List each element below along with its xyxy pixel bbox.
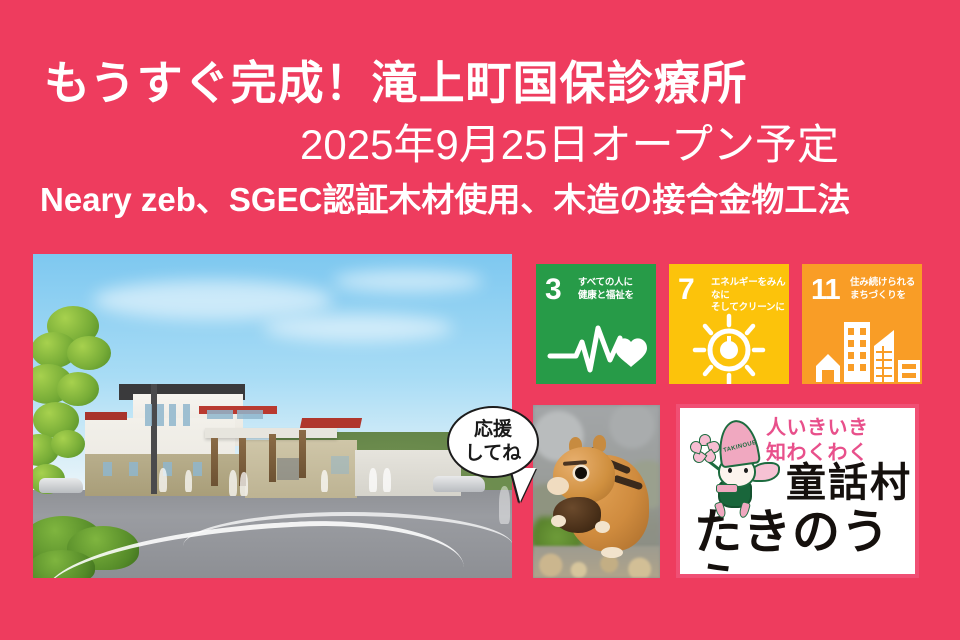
subtitle-features: Neary zeb、SGEC認証木材使用、木造の接合金物工法 xyxy=(40,180,850,220)
poster-canvas: もうすぐ完成！滝上町国保診療所 2025年9月25日オープン予定 Neary z… xyxy=(0,0,960,640)
mascot-eye xyxy=(744,468,748,473)
page-title: もうすぐ完成！滝上町国保診療所 xyxy=(44,56,748,110)
chipmunk-foot xyxy=(601,547,623,558)
logo-douwamura-text: 童話村 xyxy=(786,462,912,504)
sdg-label: 住み続けられる まちづくりを xyxy=(850,277,922,302)
entrance-door xyxy=(277,458,299,480)
town-logo: 人いきいき 知わくわく 童話村 たきのうえ TAKINOUE xyxy=(676,404,919,578)
mascot-eye xyxy=(728,468,732,473)
chipmunk-photo xyxy=(533,405,660,578)
parked-car xyxy=(39,478,83,493)
sun-power-icon xyxy=(669,312,789,384)
speech-bubble-text: 応援 してね xyxy=(465,418,521,466)
chipmunk-paw xyxy=(595,521,610,533)
sdg-label: エネルギーをみんなに そしてクリーンに xyxy=(711,277,787,315)
cloud-shape xyxy=(263,314,453,342)
sdg-number: 7 xyxy=(678,275,695,305)
mascot-fairy: TAKINOUE xyxy=(688,418,784,514)
sdg-label: すべての人に 健康と福祉を xyxy=(578,277,654,302)
person-silhouette xyxy=(185,470,192,492)
person-silhouette xyxy=(229,470,237,496)
sdg-badge-row: 3 すべての人に 健康と福祉を 7 エネルギーをみんなに そしてクリーンに xyxy=(536,264,922,384)
canopy-column xyxy=(211,438,218,486)
parked-car xyxy=(433,476,485,492)
person-silhouette xyxy=(321,470,328,492)
entrance-red-roof xyxy=(300,418,362,428)
window xyxy=(331,456,349,474)
speech-bubble: 応援 してね xyxy=(447,406,539,478)
sdg-number: 11 xyxy=(811,275,840,305)
chipmunk-snout xyxy=(547,477,569,495)
person-silhouette xyxy=(383,468,391,492)
clinic-render-image xyxy=(33,254,512,578)
heartbeat-heart-icon xyxy=(536,312,656,384)
logo-slogan: 人いきいき 知わくわく xyxy=(766,416,918,466)
foreground-tree xyxy=(33,306,167,506)
cloud-shape xyxy=(333,270,483,292)
sdg-number: 3 xyxy=(545,275,562,305)
gravel-ground xyxy=(533,546,660,578)
person-silhouette xyxy=(499,486,510,524)
open-date-title: 2025年9月25日オープン予定 xyxy=(300,120,839,170)
window xyxy=(207,410,233,419)
sdg-badge-3: 3 すべての人に 健康と福祉を xyxy=(536,264,656,384)
city-buildings-icon xyxy=(802,312,922,384)
window xyxy=(183,404,190,426)
person-silhouette xyxy=(240,472,248,496)
logo-takinoue-text: たきのうえ xyxy=(694,506,915,578)
chipmunk-paw xyxy=(551,515,566,527)
canopy-column xyxy=(299,430,306,478)
person-silhouette xyxy=(369,468,377,492)
window xyxy=(237,410,263,419)
sdg-badge-7: 7 エネルギーをみんなに そしてクリーンに xyxy=(669,264,789,384)
sdg-badge-11: 11 住み続けられる まちづくりを xyxy=(802,264,922,384)
person-silhouette xyxy=(159,468,167,492)
chipmunk-eye xyxy=(575,467,587,479)
mascot-scarf xyxy=(716,484,738,493)
window xyxy=(169,404,176,426)
canopy-column xyxy=(269,434,276,482)
window xyxy=(193,462,202,476)
cherry-blossom-icon xyxy=(690,434,720,464)
